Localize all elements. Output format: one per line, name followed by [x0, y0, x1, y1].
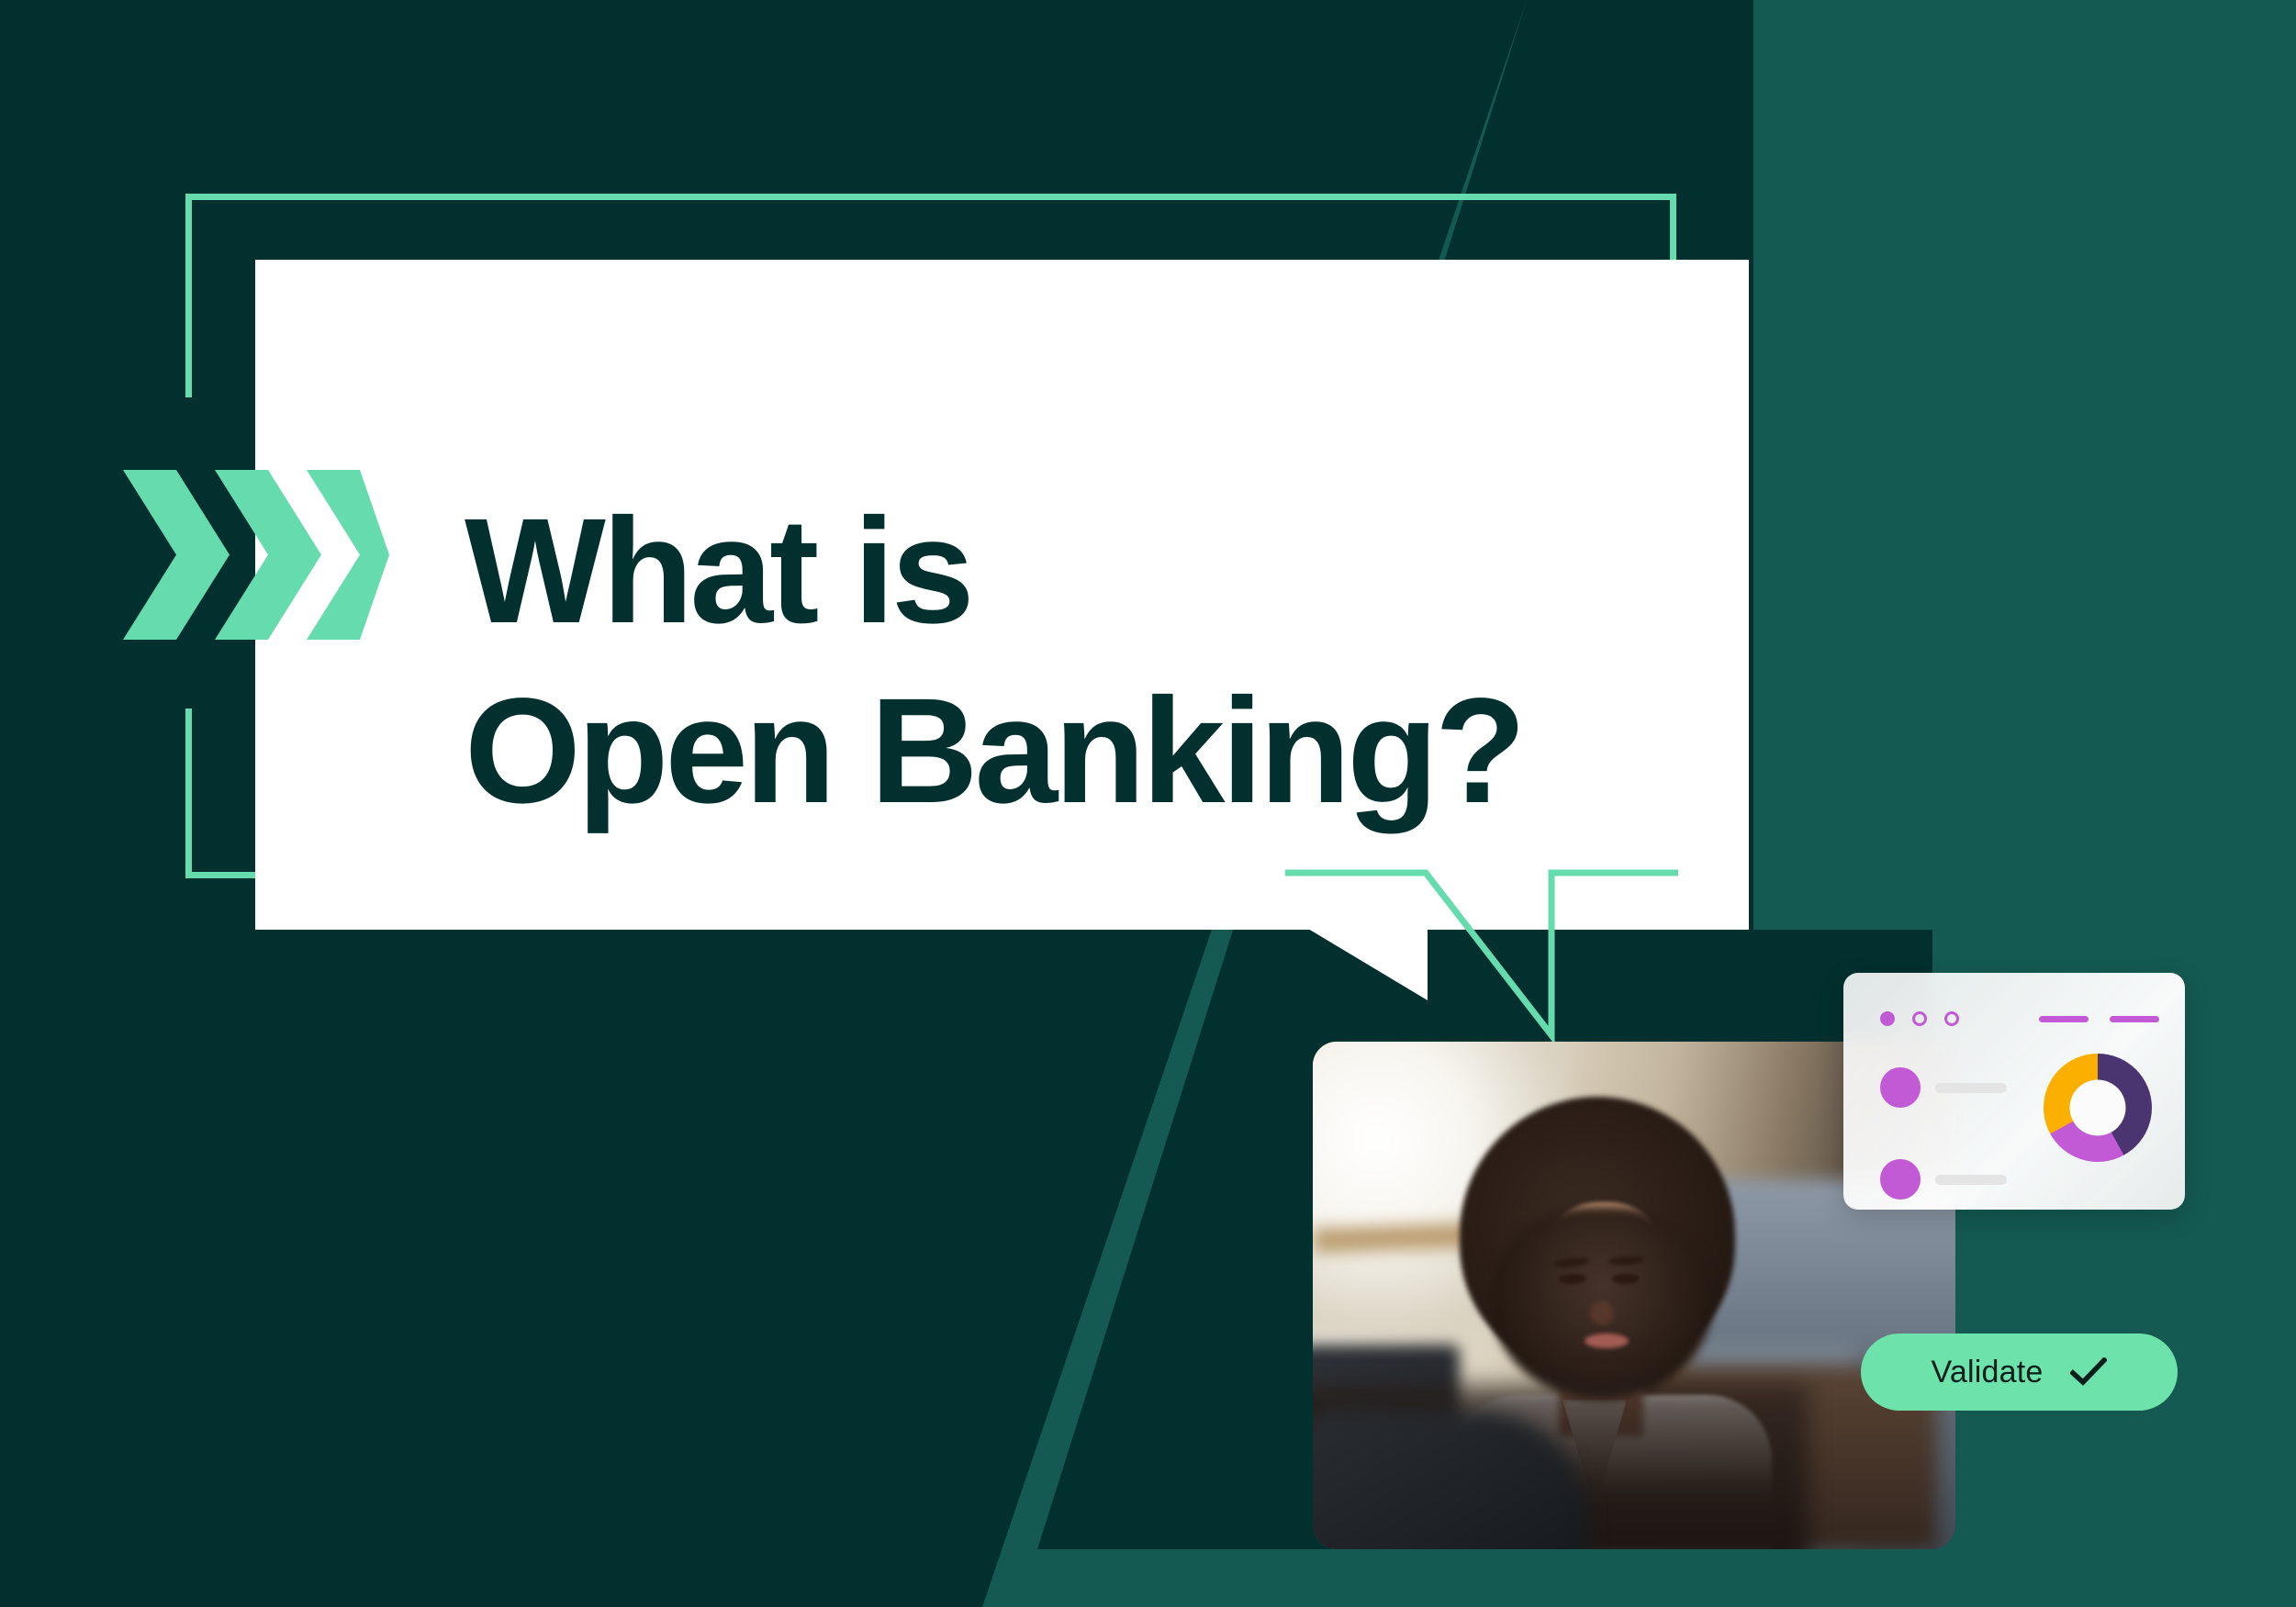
header-dash-2 [2110, 1016, 2159, 1022]
photo-eye-right [1612, 1274, 1640, 1284]
card-list [1880, 1067, 2007, 1200]
status-dot-active [1880, 1011, 1895, 1026]
page-title-line-2: Open Banking? [465, 661, 1695, 841]
page-title: What is Open Banking? [465, 481, 1695, 840]
card-status-dots [1880, 1011, 1959, 1026]
validate-button-label: Validate [1932, 1355, 2044, 1390]
page-title-line-1: What is [465, 481, 1695, 661]
header-dash-1 [2039, 1016, 2089, 1022]
donut-chart [2044, 1054, 2152, 1162]
validate-button[interactable]: Validate [1861, 1334, 2178, 1411]
list-item-placeholder-bar [1935, 1083, 2007, 1093]
double-chevron-right-icon [123, 470, 389, 640]
check-icon [2070, 1357, 2107, 1387]
list-item-bullet [1880, 1067, 1921, 1108]
frame-tail-outline [1285, 863, 1708, 1065]
status-dot-inactive-2 [1944, 1011, 1959, 1026]
photo-eye-left [1559, 1274, 1586, 1284]
frame-left-edge-upper [185, 194, 192, 397]
list-item-placeholder-bar [1935, 1175, 2007, 1185]
list-item[interactable] [1880, 1067, 2007, 1108]
status-dot-inactive-1 [1912, 1011, 1927, 1026]
list-item-bullet [1880, 1159, 1921, 1200]
poster-canvas: What is Open Banking? [0, 0, 2296, 1607]
photo-lips [1585, 1334, 1629, 1348]
donut-chart-hole [2070, 1080, 2126, 1136]
frame-left-edge-lower [185, 709, 192, 878]
card-header-dashes [2039, 1016, 2159, 1022]
frame-top-edge [185, 194, 1676, 200]
dashboard-card[interactable] [1843, 973, 2185, 1210]
photo-nose [1590, 1301, 1614, 1325]
list-item[interactable] [1880, 1159, 2007, 1200]
